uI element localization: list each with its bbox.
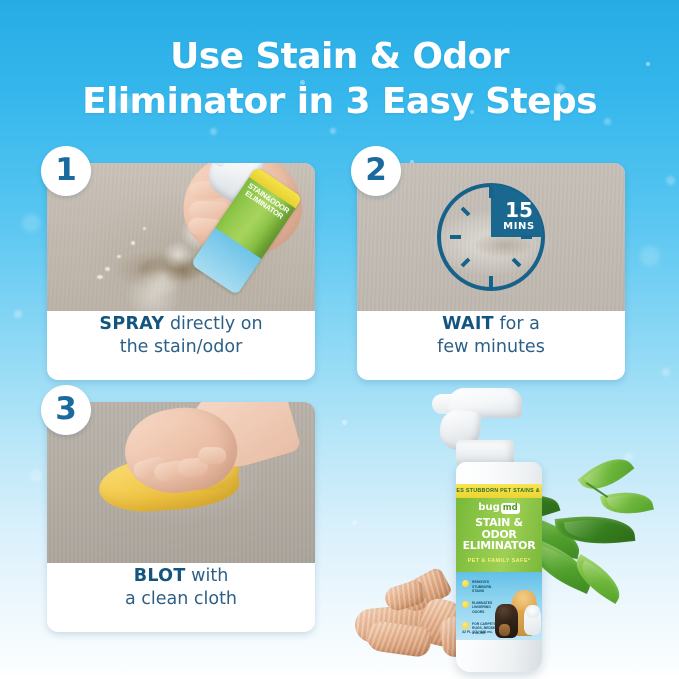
- step-badge-2: 2: [351, 146, 401, 196]
- page-title: Use Stain & Odor Eliminator in 3 Easy St…: [0, 34, 679, 124]
- label-banner-text: REMOVES STUBBORN PET STAINS & ODORS: [456, 488, 542, 494]
- step-badge-1: 1: [41, 146, 91, 196]
- step-3-action: BLOT: [134, 566, 186, 586]
- check-icon: [462, 580, 469, 587]
- clock-label: 15 MINS: [494, 200, 544, 232]
- infographic-canvas: Use Stain & Odor Eliminator in 3 Easy St…: [0, 0, 679, 679]
- clock-unit: MINS: [494, 221, 544, 232]
- step-2-caption: WAIT for a few minutes: [357, 313, 625, 380]
- step-2-action: WAIT: [442, 314, 494, 334]
- step-3-caption: BLOT with a clean cloth: [47, 565, 315, 632]
- product-bottle: REMOVES STUBBORN PET STAINS & ODORS bugm…: [438, 388, 558, 676]
- step-1-rest: directly on: [164, 314, 262, 334]
- step-3-photo: [47, 402, 315, 563]
- check-icon: [462, 622, 469, 629]
- step-1-caption: SPRAY directly on the stain/odor: [47, 313, 315, 380]
- step-3-rest: with: [186, 566, 229, 586]
- product-name: STAIN & ODOR ELIMINATOR: [456, 517, 542, 552]
- product-volume: 32 FL OZ / 946 mL: [462, 630, 493, 634]
- step-3-line2: a clean cloth: [47, 588, 315, 611]
- product-name-line1: STAIN & ODOR: [456, 517, 542, 540]
- bottle-body: REMOVES STUBBORN PET STAINS & ODORS bugm…: [456, 462, 542, 672]
- step-1-action: SPRAY: [99, 314, 164, 334]
- clock-icon: 15 MINS: [432, 178, 550, 296]
- product-tagline: PET & FAMILY SAFE*: [456, 558, 542, 564]
- step-card-1: STAIN&ODORELIMINATOR SPRAY directly on t…: [47, 163, 315, 380]
- step-2-rest: for a: [494, 314, 540, 334]
- brand-logo: bugmd: [456, 503, 542, 514]
- step-badge-3: 3: [41, 385, 91, 435]
- step-1-photo: STAIN&ODORELIMINATOR: [47, 163, 315, 311]
- bottle-label: REMOVES STUBBORN PET STAINS & ODORS bugm…: [456, 484, 542, 640]
- clock-value: 15: [494, 200, 544, 220]
- brand-badge: md: [501, 503, 520, 514]
- title-line-1: Use Stain & Odor: [170, 36, 509, 77]
- step-2-photo: 15 MINS: [357, 163, 625, 311]
- step-1-line2: the stain/odor: [47, 336, 315, 359]
- brand-main: bug: [478, 502, 499, 513]
- leaves-decoration: [540, 455, 679, 635]
- product-name-line2: ELIMINATOR: [456, 540, 542, 552]
- pet-photos: [493, 580, 541, 640]
- title-line-2: Eliminator in 3 Easy Steps: [0, 79, 679, 124]
- step-card-3: BLOT with a clean cloth: [47, 402, 315, 632]
- step-card-2: 15 MINS WAIT for a few minutes: [357, 163, 625, 380]
- step-2-line2: few minutes: [357, 336, 625, 359]
- trigger-sprayer: [432, 388, 528, 462]
- check-icon: [462, 601, 469, 608]
- label-banner: REMOVES STUBBORN PET STAINS & ODORS: [456, 484, 542, 498]
